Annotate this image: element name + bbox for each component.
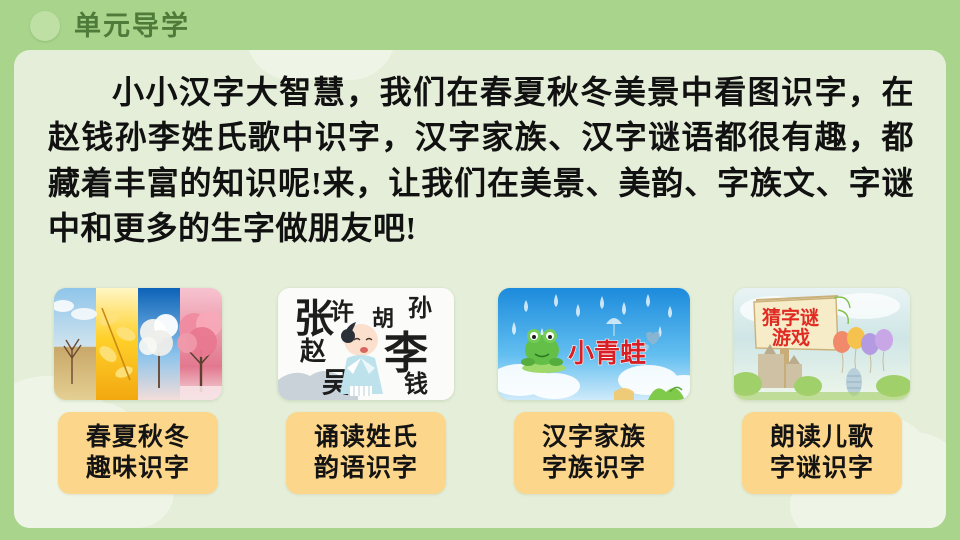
character-riddle-game-thumbnail[interactable]: 猜字谜 游戏 [734, 288, 910, 400]
intro-paragraph: 小小汉字大智慧，我们在春夏秋冬美景中看图识字，在赵钱孙李姓氏歌中识字，汉字家族、… [48, 70, 914, 252]
card-label: 汉字家族 字族识字 [514, 412, 674, 494]
card-label: 诵读姓氏 韵语识字 [286, 412, 446, 494]
card-riddle-game[interactable]: 猜字谜 游戏 [722, 288, 922, 494]
svg-text:李: 李 [384, 329, 428, 378]
card-row: 春夏秋冬 趣味识字 张 许 胡 孙 赵 [38, 288, 922, 514]
svg-text:钱: 钱 [404, 371, 428, 398]
svg-text:许: 许 [330, 298, 354, 326]
four-seasons-thumbnail[interactable] [54, 288, 222, 400]
svg-text:张: 张 [294, 296, 334, 341]
page-title: 单元导学 [74, 13, 190, 40]
surname-song-thumbnail[interactable]: 张 许 胡 孙 赵 李 吴 钱 [278, 288, 454, 400]
card-label-line2: 字谜识字 [770, 454, 874, 484]
header-banner: 单元导学 [0, 0, 960, 52]
little-frog-thumbnail[interactable]: 小青蛙 [498, 288, 690, 400]
card-label-line1: 朗读儿歌 [770, 423, 874, 453]
card-label-line2: 字族识字 [542, 454, 646, 484]
card-label: 朗读儿歌 字谜识字 [742, 412, 902, 494]
thumb-title-line2: 游戏 [772, 326, 810, 349]
content-panel: 小小汉字大智慧，我们在春夏秋冬美景中看图识字，在赵钱孙李姓氏歌中识字，汉字家族、… [14, 50, 946, 528]
card-label-line1: 汉字家族 [542, 423, 646, 453]
svg-text:孙: 孙 [408, 295, 432, 322]
thumb-title-line1: 猜字谜 [762, 306, 819, 329]
card-label-line1: 春夏秋冬 [86, 423, 190, 453]
slide-root: 单元导学 小小汉字大智慧，我们在春夏秋冬美景中看图识字，在赵钱孙李姓氏歌中识字，… [0, 0, 960, 540]
card-little-frog[interactable]: 小青蛙 汉字家族 字族识字 [494, 288, 694, 494]
circle-bullet-icon [30, 11, 60, 41]
card-label-line1: 诵读姓氏 [314, 423, 418, 453]
card-surname-song[interactable]: 张 许 胡 孙 赵 李 吴 钱 [266, 288, 466, 494]
cloud-decoration-top-small [300, 50, 374, 72]
card-label-line2: 韵语识字 [314, 454, 418, 484]
card-four-seasons[interactable]: 春夏秋冬 趣味识字 [38, 288, 238, 494]
thumb-title-text: 小青蛙 [568, 339, 646, 368]
card-label: 春夏秋冬 趣味识字 [58, 412, 218, 494]
svg-text:胡: 胡 [372, 306, 394, 331]
card-label-line2: 趣味识字 [86, 454, 190, 484]
svg-text:赵: 赵 [299, 337, 327, 366]
